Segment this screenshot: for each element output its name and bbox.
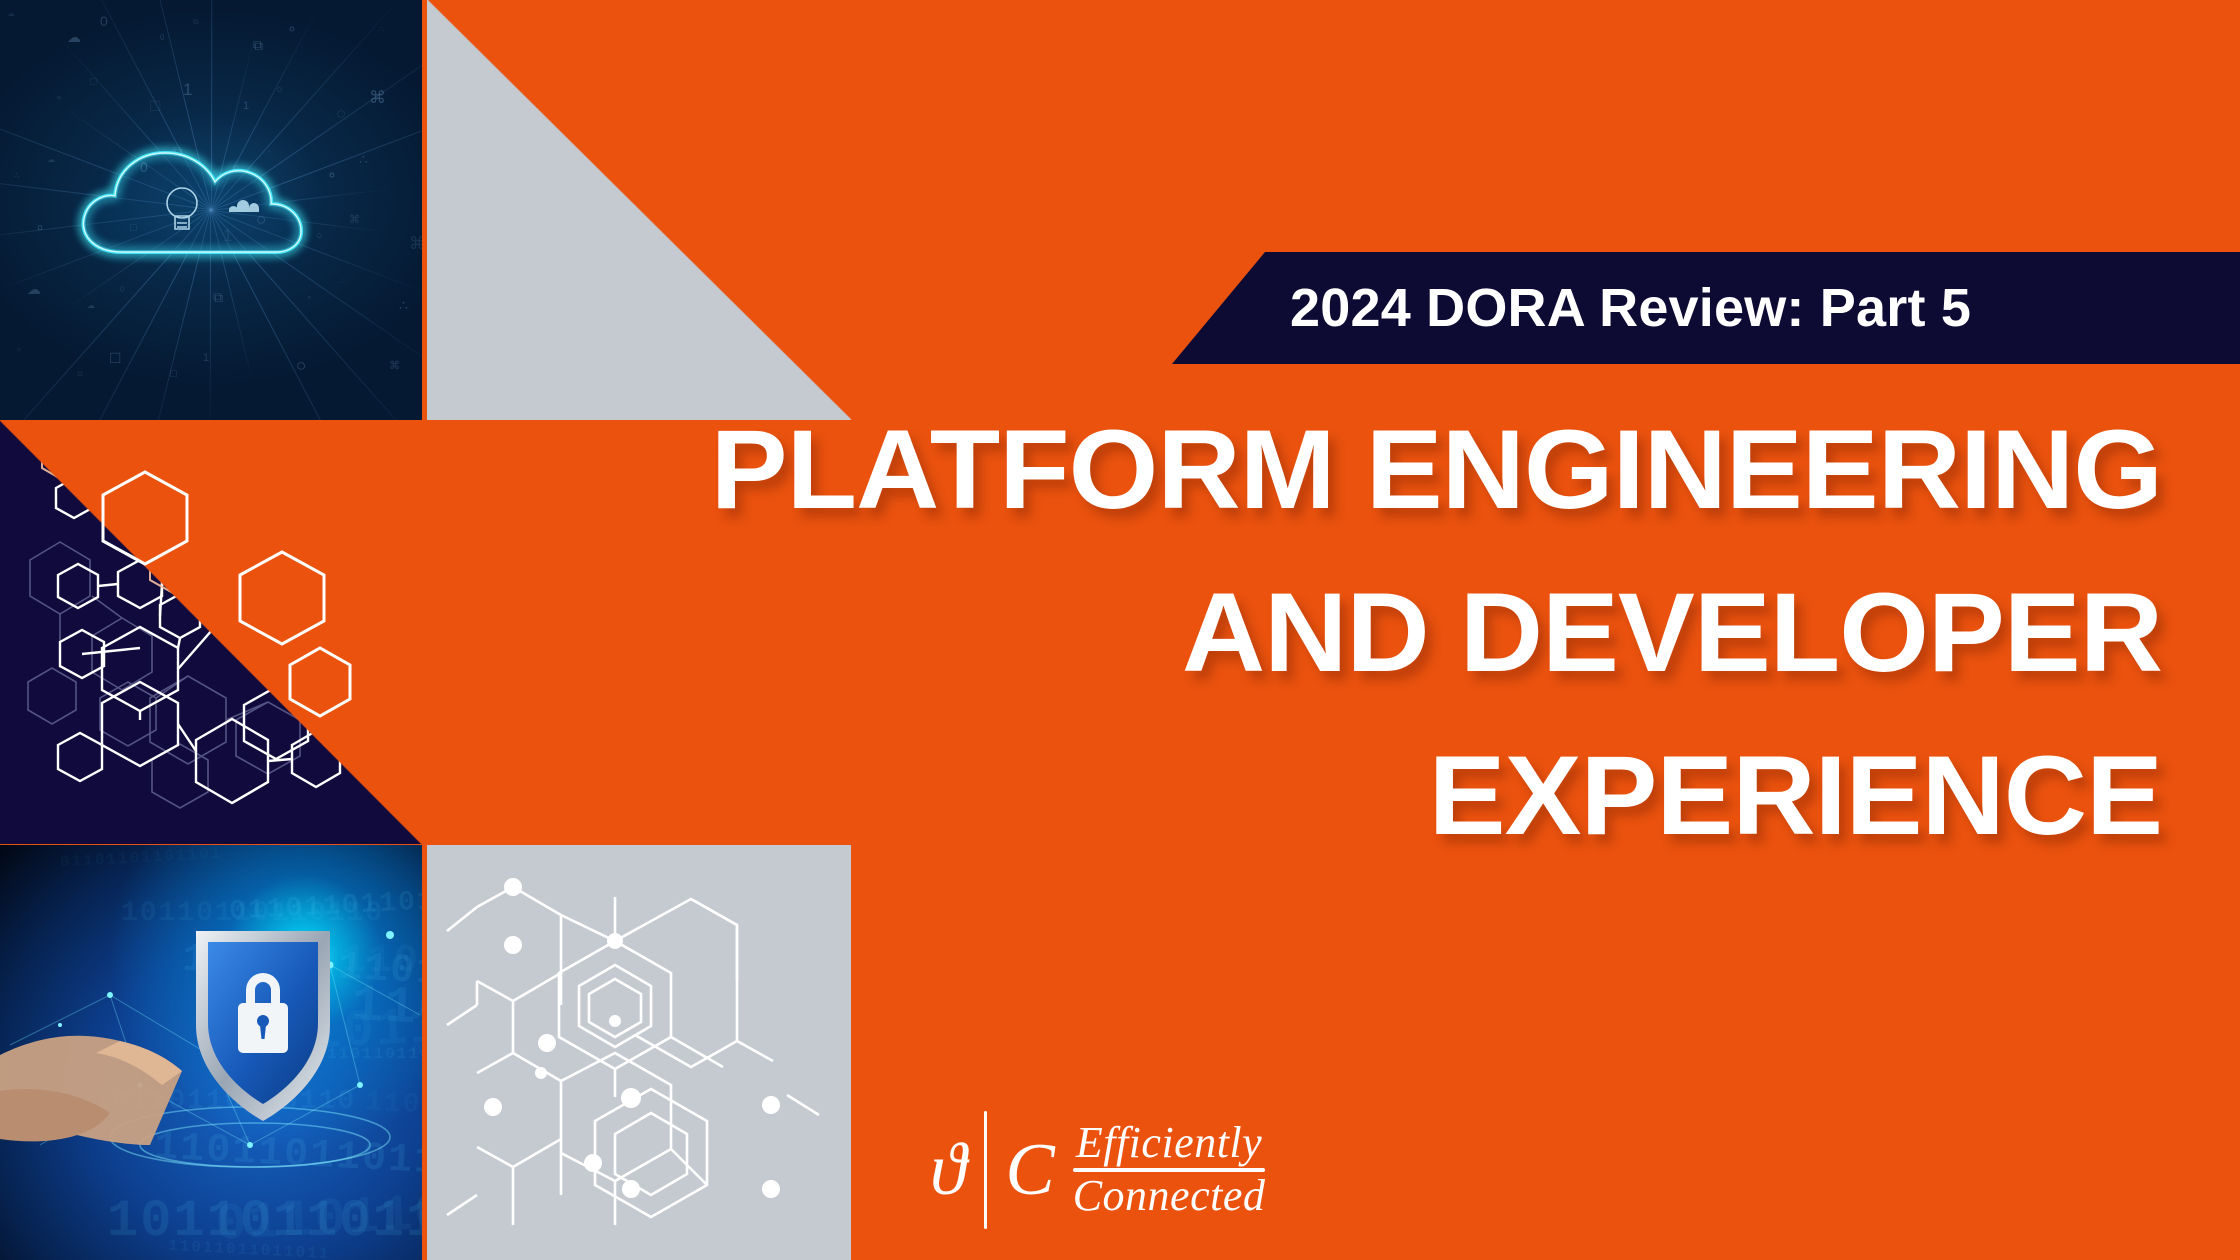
hexagon-network-graphic (0, 420, 422, 844)
mini-tech-icon: ▫ (37, 219, 43, 236)
mini-tech-icon: ⧉ (253, 38, 263, 52)
mini-tech-icon: ⌘ (369, 89, 386, 106)
mini-tech-icon: ⌘ (349, 215, 360, 226)
mini-tech-icon: 1 (223, 227, 232, 244)
grey-diagonal-wedge (427, 0, 851, 420)
mini-tech-icon: ⚬ (286, 22, 298, 36)
mini-tech-icon: ⧉ (233, 164, 239, 172)
mini-tech-icon: □ (150, 97, 160, 114)
mini-tech-icon: ○ (276, 85, 283, 96)
page-title-line-1: PLATFORM ENGINEERING (514, 388, 2162, 551)
mini-tech-icon: ⧉ (213, 290, 223, 304)
cloud-icon (61, 120, 361, 300)
brand-logo: ϑ C Efficiently Connected (930, 1105, 1360, 1235)
mini-tech-icon: ⧉ (193, 18, 199, 26)
mini-tech-icon: ☁ (47, 156, 55, 164)
hexagon-lineart-graphic (427, 845, 851, 1260)
mini-tech-icon: □ (130, 223, 137, 234)
mini-tech-icon: ∴ (399, 298, 408, 312)
mini-tech-icon: ▫ (17, 345, 21, 356)
mini-tech-icon: ☁ (67, 30, 81, 44)
mini-tech-icon: ⚬ (326, 168, 338, 182)
mini-tech-icon: ○ (316, 231, 323, 242)
mini-tech-icon: □ (110, 349, 120, 366)
mini-tech-icon: ○ (296, 357, 306, 374)
mini-tech-icon: ▫ (97, 239, 101, 250)
mini-tech-icon: 0 (140, 160, 148, 174)
mini-tech-icon: ▫ (77, 365, 83, 382)
mini-tech-icon: ○ (256, 211, 266, 228)
page-title: PLATFORM ENGINEERING AND DEVELOPER EXPER… (562, 388, 2162, 877)
mini-tech-icon: □ (170, 369, 177, 380)
mini-tech-icon: 0 (100, 14, 108, 28)
mini-tech-icon: □ (90, 77, 97, 88)
mini-tech-icon: ⌘ (389, 361, 400, 372)
mini-tech-icon: ⚬ (266, 148, 273, 156)
mini-tech-icon: ∴ (339, 278, 344, 286)
mini-tech-icon: ∴ (359, 152, 368, 166)
mini-tech-icon: ⧉ (173, 144, 183, 158)
logo-tagline-bottom: Connected (1073, 1174, 1266, 1219)
mini-tech-icon: ▫ (57, 93, 61, 104)
shield-lock-icon (0, 845, 422, 1260)
mini-tech-icon: ∴ (379, 26, 384, 34)
mini-tech-icon: 0 (160, 34, 164, 42)
logo-tagline-top: Efficiently (1076, 1121, 1262, 1166)
logo-tagline: Efficiently Connected (1073, 1121, 1266, 1219)
mini-tech-icon: ☁ (87, 302, 95, 310)
logo-monogram-left: ϑ (930, 1133, 966, 1207)
mini-tech-icon: ⌘ (409, 235, 422, 252)
slide-canvas: ☁□⧉○∴▫01⚬⌘☁□⧉○∴▫01⚬⌘☁□⧉○∴▫01⚬⌘☁□⧉○∴▫01⚬⌘… (0, 0, 2240, 1260)
hexagon-nodes-icon (427, 845, 851, 1260)
mini-tech-icon: ∴ (14, 172, 19, 180)
mini-tech-icon: ⚬ (306, 294, 313, 302)
hexagon-overlay-front (0, 420, 422, 844)
banner-label: 2024 DORA Review: Part 5 (1290, 252, 2240, 364)
mini-tech-icon: 1 (203, 353, 209, 364)
mini-tech-icon: 0 (120, 286, 124, 294)
mini-tech-icon: ☁ (7, 10, 15, 18)
mini-tech-icon: 1 (183, 81, 192, 98)
cloud-computing-photo: ☁□⧉○∴▫01⚬⌘☁□⧉○∴▫01⚬⌘☁□⧉○∴▫01⚬⌘☁□⧉○∴▫01⚬⌘… (0, 0, 422, 420)
page-title-line-3: EXPERIENCE (514, 714, 2162, 877)
logo-divider (984, 1111, 987, 1229)
mini-tech-icon: ○ (336, 105, 346, 122)
mini-tech-icon: 1 (243, 101, 249, 112)
page-title-line-2: AND DEVELOPER (514, 551, 2162, 714)
logo-monogram-right: C (1005, 1133, 1054, 1207)
security-shield-photo: 0110110110110110110110110110110110110110… (0, 845, 422, 1260)
mini-tech-icon: ☁ (27, 282, 41, 296)
